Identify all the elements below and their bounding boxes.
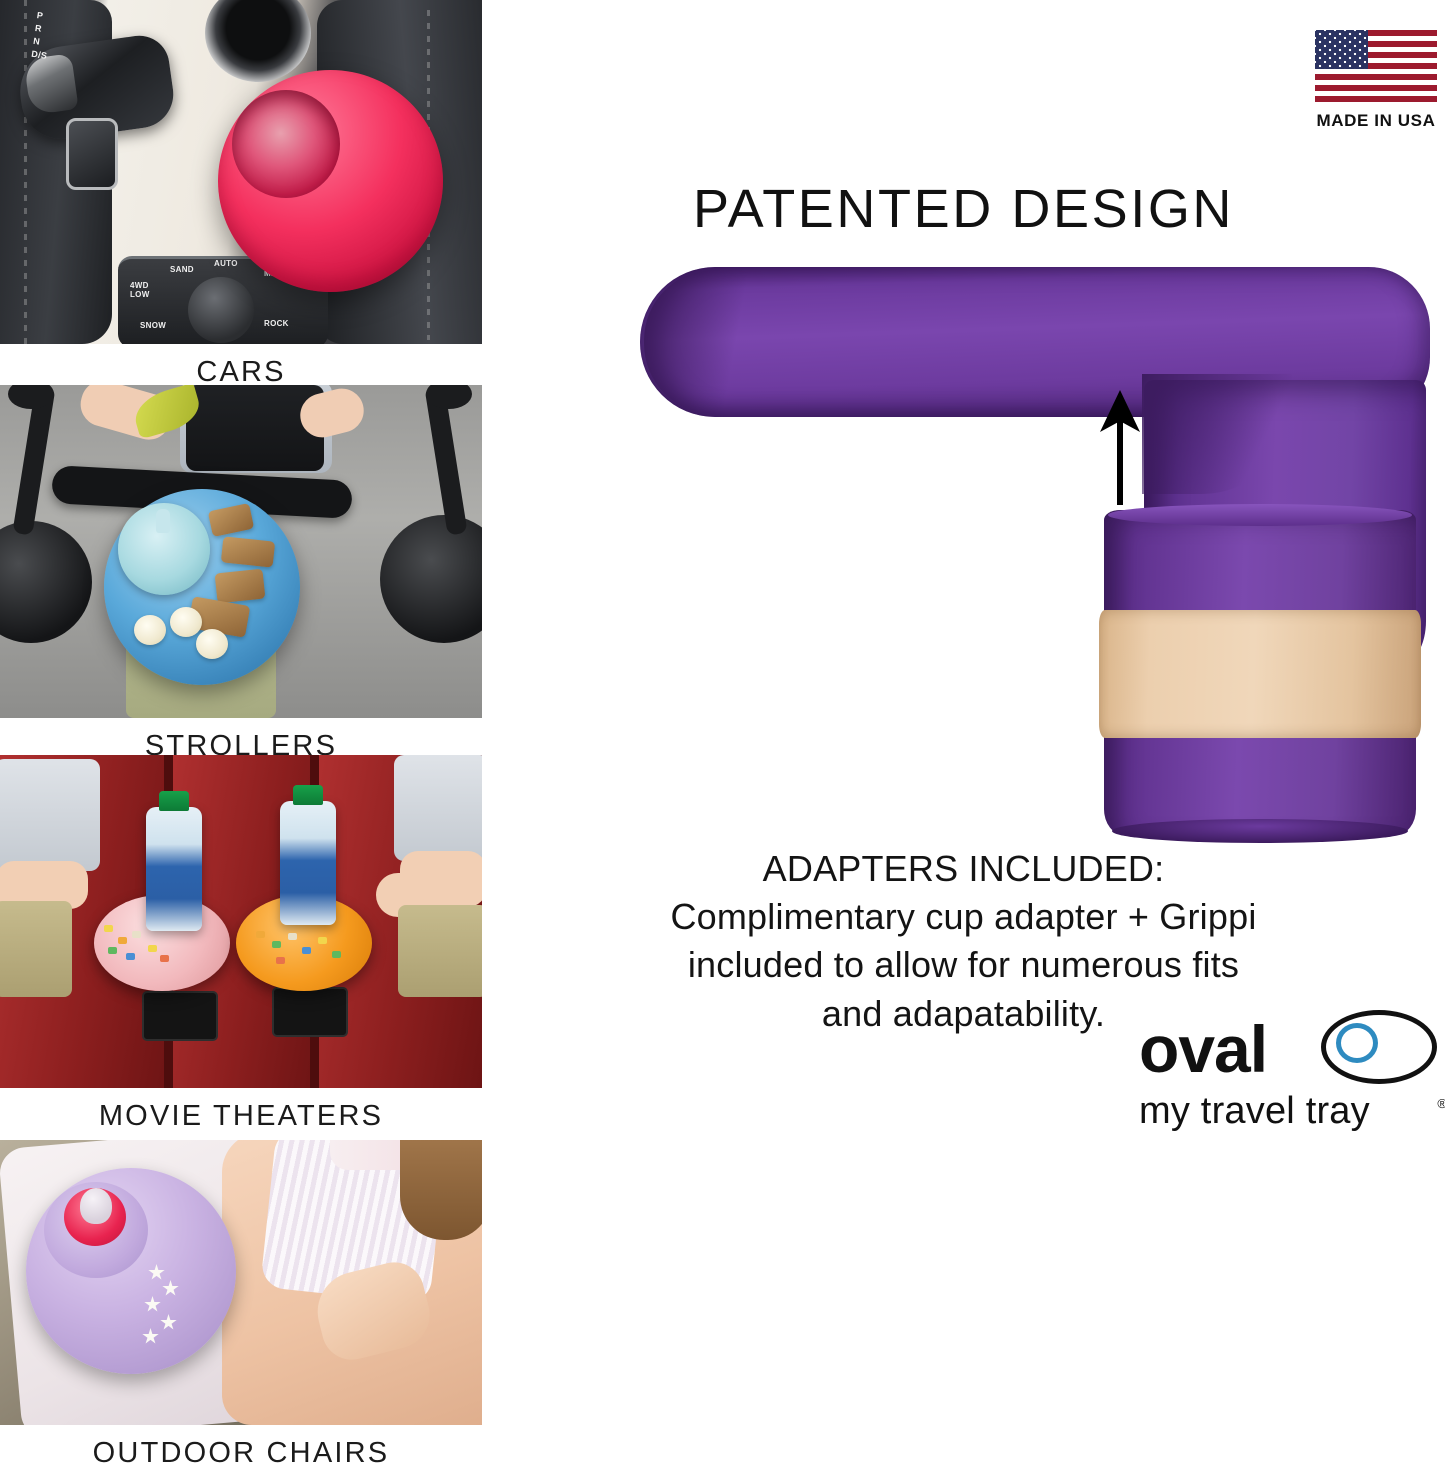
up-arrow-icon bbox=[1100, 390, 1140, 505]
water-bottle-left bbox=[146, 807, 202, 931]
kid-right-shorts bbox=[398, 905, 482, 997]
banana-slice bbox=[196, 629, 228, 659]
snack-piece bbox=[126, 953, 135, 960]
snack-piece bbox=[256, 931, 265, 938]
star-snack bbox=[142, 1328, 159, 1345]
dial-label-snow: SNOW bbox=[140, 321, 166, 330]
snack-piece bbox=[302, 947, 311, 954]
logo-ellipse-icon bbox=[1321, 1010, 1437, 1084]
snack-piece bbox=[132, 931, 141, 938]
use-case-cars: PRND/S 4WDLOW SAND AUTO M.. ROCK SNOW CA… bbox=[0, 0, 482, 387]
cup-holder-right bbox=[272, 987, 348, 1037]
star-snack bbox=[162, 1280, 179, 1297]
shifter-base bbox=[66, 118, 118, 190]
sippy-cup bbox=[118, 503, 210, 595]
caption-cars: CARS bbox=[0, 344, 482, 387]
kid-right-shirt bbox=[394, 755, 482, 861]
made-in-usa-label: MADE IN USA bbox=[1312, 111, 1440, 131]
snack-piece bbox=[118, 937, 127, 944]
logo-trademark: ® bbox=[1437, 1096, 1445, 1111]
page-title: PATENTED DESIGN bbox=[482, 178, 1445, 240]
made-in-usa-badge: MADE IN USA bbox=[1312, 30, 1440, 131]
logo-blue-circle-icon bbox=[1336, 1023, 1378, 1063]
snack-piece bbox=[160, 955, 169, 962]
grippi-band bbox=[1099, 610, 1421, 738]
logo-tagline: my travel tray bbox=[1139, 1092, 1370, 1130]
adapters-heading: ADAPTERS INCLUDED: bbox=[482, 845, 1445, 893]
use-case-column: PRND/S 4WDLOW SAND AUTO M.. ROCK SNOW CA… bbox=[0, 0, 482, 1472]
snack-piece bbox=[148, 945, 157, 952]
photo-car-console: PRND/S 4WDLOW SAND AUTO M.. ROCK SNOW bbox=[0, 0, 482, 344]
usa-flag-icon bbox=[1315, 30, 1437, 102]
baby-hair bbox=[400, 1140, 482, 1240]
stroller-wheel-left bbox=[0, 521, 92, 643]
adapters-line-1: Complimentary cup adapter + Grippi bbox=[482, 893, 1445, 941]
granola-piece bbox=[221, 536, 275, 567]
dial-knob bbox=[188, 277, 254, 343]
photo-stroller bbox=[0, 385, 482, 718]
star-snack bbox=[148, 1264, 165, 1281]
banana-slice bbox=[170, 607, 202, 637]
use-case-outdoor-chairs: OUTDOOR CHAIRS bbox=[0, 1140, 482, 1468]
cup-holder bbox=[205, 0, 311, 82]
snack-piece bbox=[288, 933, 297, 940]
cup-adapter-illustration bbox=[1104, 510, 1416, 835]
product-marketing-image: PRND/S 4WDLOW SAND AUTO M.. ROCK SNOW CA… bbox=[0, 0, 1445, 1472]
flag-canton bbox=[1315, 30, 1368, 69]
photo-movie-theater bbox=[0, 755, 482, 1088]
product-tray-in-photo bbox=[26, 1168, 236, 1374]
star-snack bbox=[144, 1296, 161, 1313]
logo-wordmark: oval bbox=[1139, 1016, 1267, 1082]
sippy-cup bbox=[44, 1182, 148, 1278]
cup-holder-left bbox=[142, 991, 218, 1041]
product-detail-column: MADE IN USA PATENTED DESIGN ADAPTERS INC… bbox=[482, 0, 1445, 1472]
snack-piece bbox=[276, 957, 285, 964]
snack-piece bbox=[332, 951, 341, 958]
granola-piece bbox=[208, 503, 254, 537]
dial-label-sand: SAND bbox=[170, 265, 194, 274]
use-case-movie-theaters: MOVIE THEATERS bbox=[0, 755, 482, 1131]
use-case-strollers: STROLLERS bbox=[0, 385, 482, 761]
adapters-line-2: included to allow for numerous fits bbox=[482, 941, 1445, 989]
adapter-rim bbox=[1108, 504, 1412, 526]
kid-left-shorts bbox=[0, 901, 72, 997]
snack-piece bbox=[318, 937, 327, 944]
tray-cup-well bbox=[232, 90, 340, 198]
product-tray-in-photo bbox=[104, 489, 300, 685]
caption-movie-theaters: MOVIE THEATERS bbox=[0, 1088, 482, 1131]
dial-label-4wd: 4WDLOW bbox=[130, 281, 150, 299]
water-bottle-right bbox=[280, 801, 336, 925]
caption-outdoor-chairs: OUTDOOR CHAIRS bbox=[0, 1425, 482, 1468]
star-snack bbox=[160, 1314, 177, 1331]
photo-outdoor bbox=[0, 1140, 482, 1425]
product-tray-in-photo bbox=[218, 70, 443, 292]
dial-label-auto: AUTO bbox=[214, 259, 238, 268]
adapter-base bbox=[1112, 819, 1408, 843]
sippy-cup-spout bbox=[80, 1188, 112, 1224]
shifter-knob bbox=[23, 53, 78, 115]
kid-left-shirt bbox=[0, 759, 100, 871]
adapters-description: ADAPTERS INCLUDED: Complimentary cup ada… bbox=[482, 845, 1445, 1038]
brand-logo: oval my travel tray ® bbox=[1127, 1010, 1445, 1135]
granola-piece bbox=[215, 569, 266, 604]
stroller-wheel-right bbox=[380, 515, 482, 643]
snack-piece bbox=[104, 925, 113, 932]
banana-slice bbox=[134, 615, 166, 645]
snack-piece bbox=[108, 947, 117, 954]
dial-label-rock: ROCK bbox=[264, 319, 289, 328]
snack-piece bbox=[272, 941, 281, 948]
